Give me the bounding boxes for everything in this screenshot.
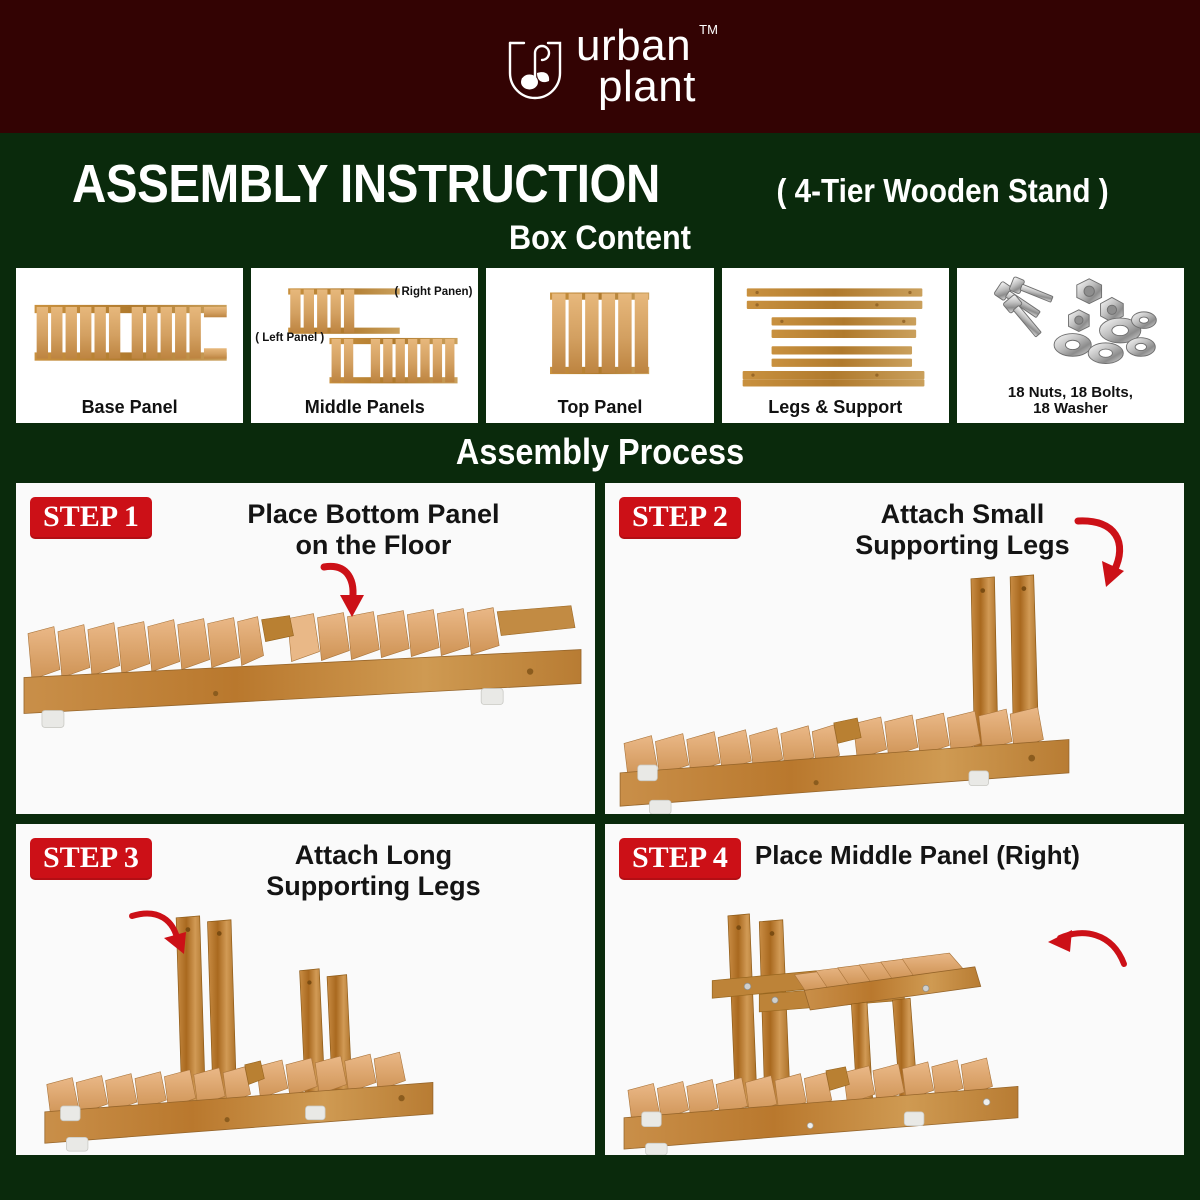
legs-support-illustration: [722, 268, 949, 398]
step-4-illustration: [605, 910, 1184, 1155]
step-4-header: STEP 4 Place Middle Panel (Right): [605, 824, 1184, 880]
step-1-down-arrow-icon: [308, 559, 378, 629]
box-content-item-legs-support: Legs & Support: [722, 268, 949, 423]
box-content-label: Base Panel: [78, 398, 182, 417]
box-content-item-hardware: 18 Nuts, 18 Bolts, 18 Washer: [957, 268, 1184, 423]
brand-wordmark: urban plant TM: [576, 26, 696, 107]
assembly-step-4: STEP 4 Place Middle Panel (Right): [605, 824, 1184, 1155]
box-content-label-line1: 18 Nuts, 18 Bolts,: [1004, 385, 1137, 401]
box-content-item-middle-panels: ( Right Panen) ( Left Panel ) Middle Pan…: [251, 268, 478, 423]
step-1-text-line2: on the Floor: [166, 530, 581, 561]
step-4-text: Place Middle Panel (Right): [755, 838, 1170, 870]
box-content-label: Top Panel: [554, 398, 647, 417]
step-3-badge: STEP 3: [30, 838, 152, 880]
middle-panel-right-tag: ( Right Panen): [394, 286, 472, 298]
box-content-item-top-panel: Top Panel: [486, 268, 713, 423]
step-4-left-arrow-icon: [1042, 922, 1132, 992]
page-title-row: ASSEMBLY INSTRUCTION ( 4-Tier Wooden Sta…: [0, 133, 1200, 215]
brand-header: urban plant TM: [0, 0, 1200, 133]
plant-sprout-shield-icon: [504, 29, 566, 105]
assembly-step-3: STEP 3 Attach Long Supporting Legs: [16, 824, 595, 1155]
urban-plant-logo: urban plant TM: [504, 26, 696, 107]
step-3-text: Attach Long Supporting Legs: [166, 838, 581, 903]
step-2-badge: STEP 2: [619, 497, 741, 539]
assembly-steps-grid: STEP 1 Place Bottom Panel on the Floor: [0, 483, 1200, 1155]
box-content-label-line2: 18 Washer: [1029, 401, 1111, 417]
brand-name-line1: urban: [576, 26, 696, 66]
step-3-text-line2: Supporting Legs: [166, 871, 581, 902]
assembly-instruction-page: urban plant TM ASSEMBLY INSTRUCTION ( 4-…: [0, 0, 1200, 1200]
top-panel-illustration: [486, 268, 713, 398]
step-1-header: STEP 1 Place Bottom Panel on the Floor: [16, 483, 595, 562]
base-panel-illustration: [16, 268, 243, 398]
step-1-badge: STEP 1: [30, 497, 152, 539]
step-4-badge: STEP 4: [619, 838, 741, 880]
step-2-down-right-arrow-icon: [1058, 511, 1148, 601]
box-content-item-base-panel: Base Panel: [16, 268, 243, 423]
brand-name-line2: plant: [598, 67, 696, 107]
assembly-process-heading: Assembly Process: [60, 431, 1140, 473]
step-3-text-line1: Attach Long: [166, 840, 581, 871]
step-1-text: Place Bottom Panel on the Floor: [166, 497, 581, 562]
middle-panels-illustration: ( Right Panen) ( Left Panel ): [251, 268, 478, 398]
box-content-heading: Box Content: [60, 219, 1140, 258]
step-3-header: STEP 3 Attach Long Supporting Legs: [16, 824, 595, 903]
step-3-down-right-arrow-icon: [124, 902, 204, 982]
step-1-text-line1: Place Bottom Panel: [166, 499, 581, 530]
box-content-label: Legs & Support: [764, 398, 906, 417]
middle-panel-left-tag: ( Left Panel ): [255, 332, 324, 344]
step-2-illustration: [605, 569, 1184, 814]
step-1-illustration: [16, 569, 595, 814]
page-subtitle: ( 4-Tier Wooden Stand ): [777, 172, 1109, 210]
trademark-symbol: TM: [699, 22, 718, 37]
step-3-illustration: [16, 910, 595, 1155]
page-title: ASSEMBLY INSTRUCTION: [72, 153, 660, 215]
assembly-step-2: STEP 2 Attach Small Supporting Legs: [605, 483, 1184, 814]
step-4-text-line1: Place Middle Panel (Right): [755, 840, 1170, 870]
nuts-bolts-washers-illustration: [957, 268, 1184, 385]
assembly-step-1: STEP 1 Place Bottom Panel on the Floor: [16, 483, 595, 814]
box-content-row: Base Panel: [0, 268, 1200, 423]
box-content-label: Middle Panels: [301, 398, 429, 417]
